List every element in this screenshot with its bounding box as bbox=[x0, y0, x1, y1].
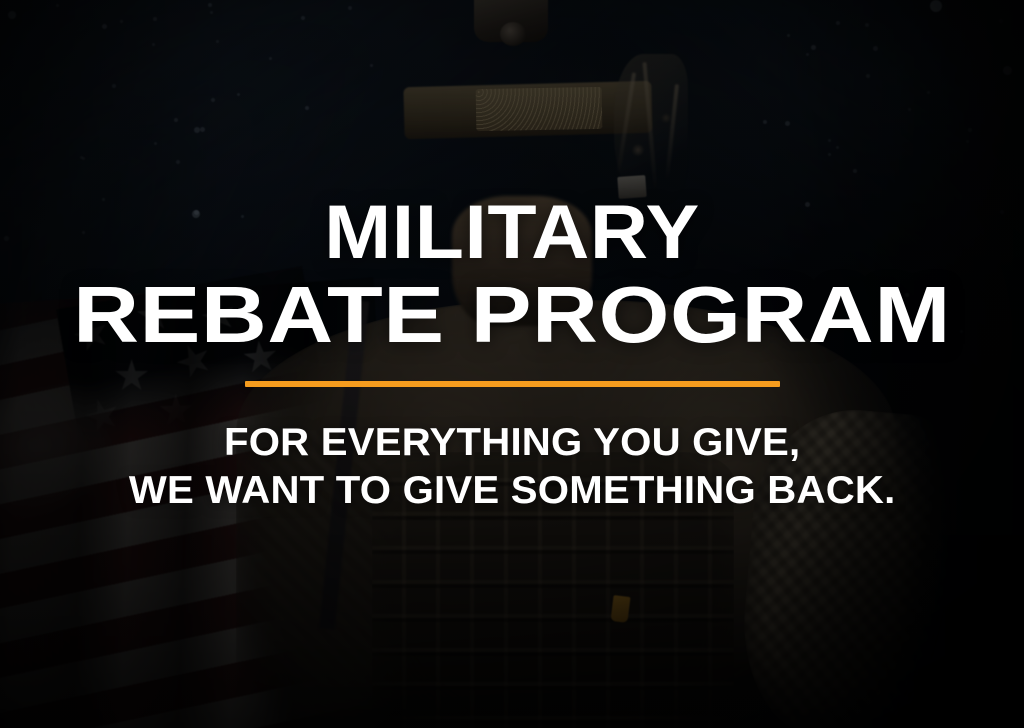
headline-line-1: MILITARY bbox=[104, 196, 920, 270]
banner-content: MILITARY REBATE PROGRAM FOR EVERYTHING Y… bbox=[0, 0, 1024, 728]
subheadline: FOR EVERYTHING YOU GIVE, WE WANT TO GIVE… bbox=[129, 419, 896, 514]
orange-divider bbox=[245, 381, 780, 387]
military-rebate-program-banner: MILITARY REBATE PROGRAM FOR EVERYTHING Y… bbox=[0, 0, 1024, 728]
headline-line-2: REBATE PROGRAM bbox=[73, 276, 951, 354]
subheadline-line-1: FOR EVERYTHING YOU GIVE, bbox=[129, 419, 896, 467]
subheadline-line-2: WE WANT TO GIVE SOMETHING BACK. bbox=[129, 467, 896, 515]
page-title: MILITARY REBATE PROGRAM bbox=[127, 0, 897, 353]
